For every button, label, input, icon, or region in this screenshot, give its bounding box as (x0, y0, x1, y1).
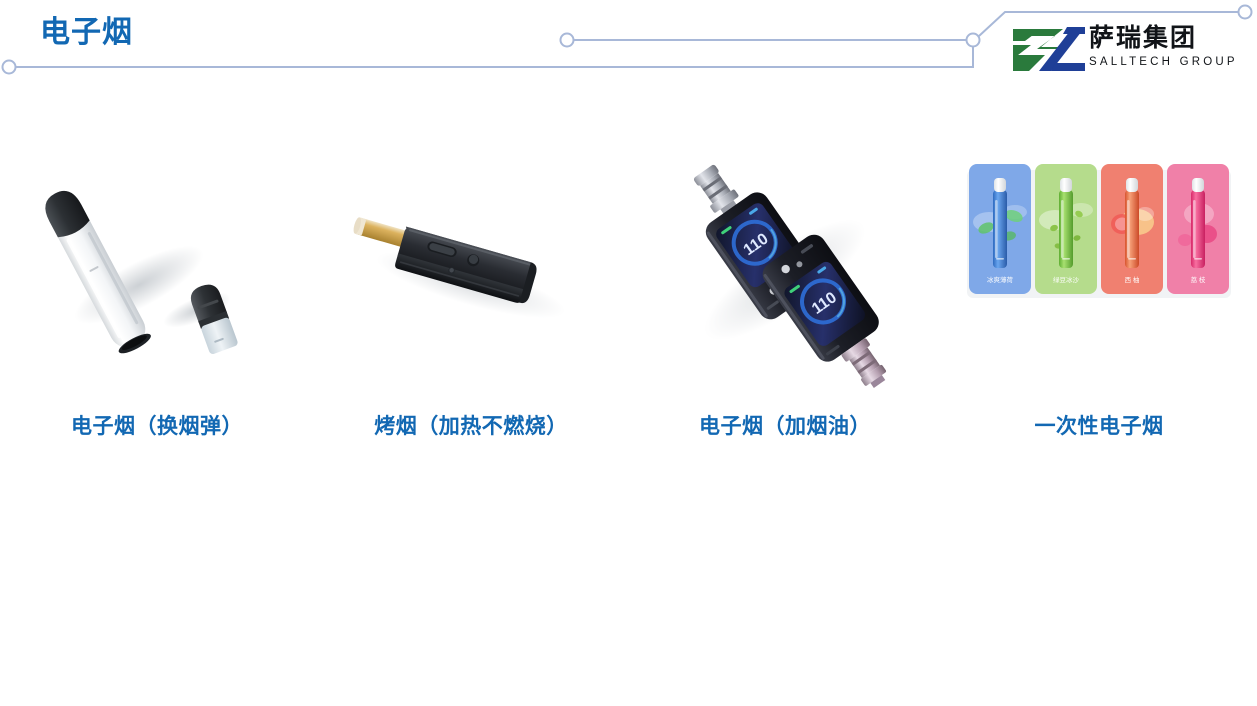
product-card-heat-not-burn[interactable]: 烤烟（加热不燃烧） (314, 150, 628, 480)
product-grid: 电子烟（换烟弹） (0, 150, 1257, 480)
salltech-logo-mark-icon (1011, 25, 1085, 75)
circle-node-icon-middle (561, 34, 574, 47)
product-label: 电子烟（加烟油） (699, 410, 871, 440)
logo-name-en: SALLTECH GROUP (1089, 55, 1251, 70)
page-title: 电子烟 (40, 14, 133, 52)
heat-not-burn-device-image (331, 150, 611, 400)
circle-node-icon-junction (967, 34, 980, 47)
product-label: 电子烟（换烟弹） (71, 410, 243, 440)
svg-text:荔 枝: 荔 枝 (1191, 275, 1206, 284)
product-label: 一次性电子烟 (1035, 410, 1164, 440)
page-header: 电子烟 萨瑞集团 SALLTECH GROUP (0, 0, 1257, 100)
logo-name-cn: 萨瑞集团 (1089, 22, 1251, 54)
svg-text:西 柚: 西 柚 (1125, 275, 1140, 284)
company-logo: 萨瑞集团 SALLTECH GROUP (1011, 22, 1251, 80)
product-card-disposable[interactable]: 冰爽薄荷 绿豆冰沙 (942, 150, 1256, 480)
pod-vape-pen-image (17, 150, 297, 400)
product-card-pod-vape[interactable]: 电子烟（换烟弹） (0, 150, 314, 480)
tank-mod-vape-image: 110 (645, 150, 925, 400)
product-card-tank-mod[interactable]: 110 (628, 150, 942, 480)
circle-node-icon-left (3, 61, 16, 74)
svg-text:冰爽薄荷: 冰爽薄荷 (987, 275, 1014, 284)
circle-node-icon-right (1239, 6, 1252, 19)
product-label: 烤烟（加热不燃烧） (374, 410, 568, 440)
svg-text:绿豆冰沙: 绿豆冰沙 (1053, 275, 1080, 284)
disposable-vape-image: 冰爽薄荷 绿豆冰沙 (959, 150, 1239, 400)
